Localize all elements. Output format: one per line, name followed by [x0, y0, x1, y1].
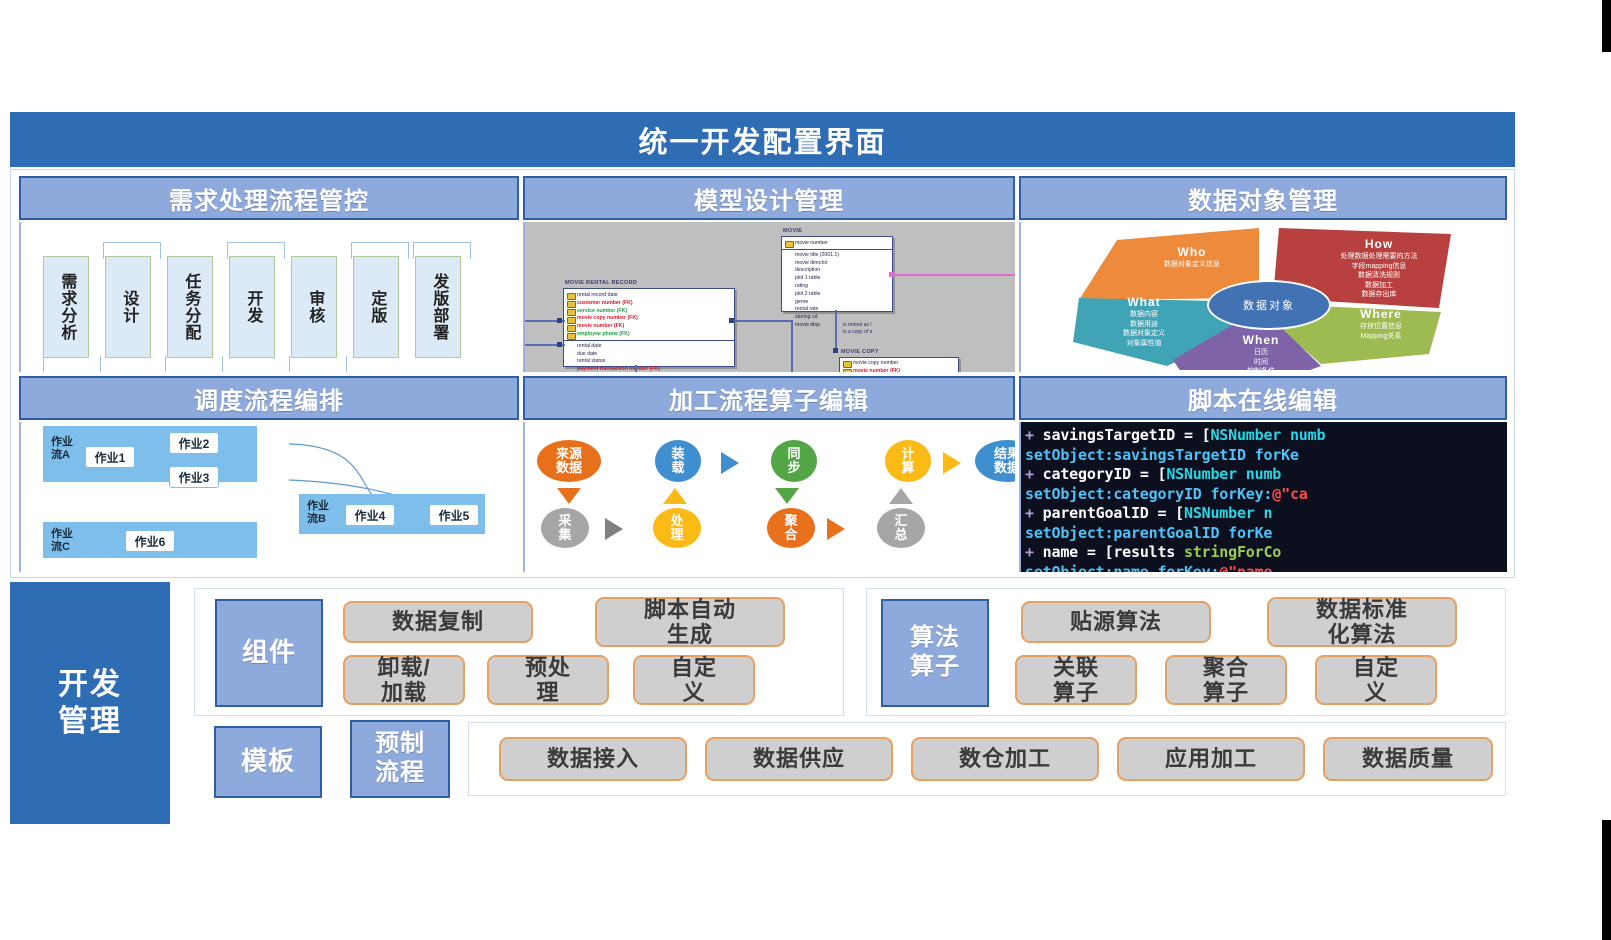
- operator-process[interactable]: 处 理: [653, 508, 701, 548]
- er-field: genre: [782, 299, 892, 307]
- er-field: plot 2 table: [782, 291, 892, 299]
- er-field: movie copy number: [840, 360, 958, 368]
- card-template-flows: 数据接入 数据供应 数仓加工 应用加工 数据质量: [468, 722, 1506, 796]
- code-line: + parentGoalID = [NSNumber n: [1025, 504, 1507, 524]
- requirement-flow-canvas: 需求分析 设计 任务分配 开发 审核 定版 发版部署: [43, 234, 513, 368]
- panel-requirement-flow[interactable]: 需求处理流程管控 需求分析 设计 任务分配 开发 审核: [19, 176, 519, 372]
- swimlane-a-label: 作业 流A: [51, 436, 73, 462]
- operator-compute[interactable]: 计 算: [885, 440, 931, 482]
- er-field: rental rate: [782, 306, 892, 314]
- er-field: plot 1 table: [782, 275, 892, 283]
- panel-body-script-editor: + savingsTargetID = [NSNumber numbsetObj…: [1019, 422, 1507, 572]
- flow-step-4[interactable]: 审核: [291, 256, 337, 358]
- arrow-up-icon: [889, 488, 913, 504]
- panel-body-data-object: Who 数据对象定义信息 How 处理数据处理需要的方法 字段mapping信息…: [1019, 222, 1507, 372]
- dev-management-section: 开发 管理 组件 数据复制 脚本自动 生成 卸载/ 加载 预处 理 自定 义 算…: [10, 582, 1515, 824]
- chip-aggregate-operator[interactable]: 聚合 算子: [1165, 655, 1287, 705]
- arrow-right-icon: [943, 452, 961, 474]
- diagram-frame: 统一开发配置界面 需求处理流程管控 需求分析: [10, 112, 1515, 824]
- category-algorithms[interactable]: 算法 算子: [881, 599, 989, 707]
- operator-sync[interactable]: 同 步: [771, 440, 817, 482]
- er-field: employee phone (FK): [564, 331, 734, 339]
- chip-join-operator[interactable]: 关联 算子: [1015, 655, 1137, 705]
- data-object-pie-chart[interactable]: Who 数据对象定义信息 How 处理数据处理需要的方法 字段mapping信息…: [1021, 222, 1507, 372]
- panel-script-editor[interactable]: 脚本在线编辑 + savingsTargetID = [NSNumber num…: [1019, 376, 1507, 572]
- er-field: movie title (2001.1): [782, 252, 892, 260]
- pie-label-who: Who 数据对象定义信息: [1117, 244, 1267, 270]
- pie-label-where: Where 存放位置信息 Mapping关系: [1317, 306, 1445, 341]
- arrow-down-icon: [557, 488, 581, 504]
- flow-step-1[interactable]: 设计: [105, 256, 151, 358]
- code-line: setObject:parentGoalID forKe: [1025, 524, 1507, 544]
- page-title-bar: 统一开发配置界面: [10, 112, 1515, 167]
- code-line: + savingsTargetID = [NSNumber numb: [1025, 426, 1507, 446]
- chip-application-processing[interactable]: 应用加工: [1117, 737, 1305, 781]
- chip-script-autogen[interactable]: 脚本自动 生成: [595, 597, 785, 647]
- chip-preprocess[interactable]: 预处 理: [487, 655, 609, 705]
- panel-body-model-design: MOVIE movie number movie title (2001.1) …: [523, 222, 1015, 372]
- chip-data-supply[interactable]: 数据供应: [705, 737, 893, 781]
- operator-summarize[interactable]: 汇 总: [877, 508, 925, 548]
- pie-label-how: How 处理数据处理需要的方法 字段mapping信息 数据清洗规则 数据加工 …: [1299, 236, 1459, 299]
- er-field: description: [782, 267, 892, 275]
- job-node-2[interactable]: 作业2: [169, 432, 219, 454]
- panel-title-model-design: 模型设计管理: [694, 181, 844, 216]
- panel-data-object[interactable]: 数据对象管理: [1019, 176, 1507, 372]
- chip-warehouse-processing[interactable]: 数仓加工: [911, 737, 1099, 781]
- category-template[interactable]: 模板: [214, 726, 322, 798]
- operator-canvas[interactable]: 来源 数据 装 载 同 步 计 算 结果 数据 采 集 处 理: [525, 422, 1015, 572]
- panel-model-design[interactable]: 模型设计管理 MOVIE movie number movie title (2…: [523, 176, 1015, 372]
- panel-header-schedule-flow: 调度流程编排: [19, 376, 519, 420]
- panel-header-operator-edit: 加工流程算子编辑: [523, 376, 1015, 420]
- chip-data-replication[interactable]: 数据复制: [343, 601, 533, 643]
- swimlane-c-label: 作业 流C: [51, 528, 73, 554]
- dev-management-label: 开发 管理: [10, 582, 170, 824]
- panel-header-model-design: 模型设计管理: [523, 176, 1015, 220]
- pie-label-when: When 日历 时间 控制条件: [1201, 332, 1321, 372]
- job-node-3[interactable]: 作业3: [169, 466, 219, 488]
- flow-step-3[interactable]: 开发: [229, 256, 275, 358]
- er-field: movie number (FK): [840, 368, 958, 372]
- card-components: 组件 数据复制 脚本自动 生成 卸载/ 加载 预处 理 自定 义: [194, 588, 844, 716]
- panel-header-script-editor: 脚本在线编辑: [1019, 376, 1507, 420]
- job-node-1[interactable]: 作业1: [85, 446, 135, 468]
- chip-source-algorithm[interactable]: 贴源算法: [1021, 601, 1211, 643]
- er-field: due date: [564, 351, 734, 359]
- panel-grid: 需求处理流程管控 需求分析 设计 任务分配 开发 审核: [10, 169, 1515, 578]
- er-field: movie number (FK): [564, 323, 734, 331]
- operator-result-data[interactable]: 结果 数据: [975, 440, 1015, 482]
- er-field: rental record date: [564, 292, 734, 300]
- page-title: 统一开发配置界面: [638, 119, 886, 161]
- chip-data-quality[interactable]: 数据质量: [1323, 737, 1493, 781]
- card-algorithms: 算法 算子 贴源算法 数据标准 化算法 关联 算子 聚合 算子 自定 义: [866, 588, 1506, 716]
- flow-step-5[interactable]: 定版: [353, 256, 399, 358]
- operator-source-data[interactable]: 来源 数据: [537, 440, 601, 482]
- panel-title-schedule-flow: 调度流程编排: [194, 381, 344, 416]
- swimlane-a[interactable]: 作业 流A: [43, 426, 257, 482]
- arrow-up-icon: [663, 488, 687, 504]
- operator-collect[interactable]: 采 集: [541, 508, 589, 548]
- code-line: + name = [results stringForCo: [1025, 543, 1507, 563]
- chip-data-standardization-algorithm[interactable]: 数据标准 化算法: [1267, 597, 1457, 647]
- category-preset-flow[interactable]: 预制 流程: [350, 720, 450, 798]
- er-field: customer number (FK): [564, 300, 734, 308]
- panel-title-data-object: 数据对象管理: [1188, 181, 1338, 216]
- panel-body-operator-edit: 来源 数据 装 载 同 步 计 算 结果 数据 采 集 处 理: [523, 422, 1015, 572]
- job-node-5[interactable]: 作业5: [429, 504, 479, 526]
- panel-title-script-editor: 脚本在线编辑: [1188, 381, 1338, 416]
- code-line: setObject:savingsTargetID forKe: [1025, 446, 1507, 466]
- er-field: service number (FK): [564, 308, 734, 316]
- er-field: movie copy number (FK): [564, 315, 734, 323]
- er-diagram-canvas[interactable]: MOVIE movie number movie title (2001.1) …: [525, 222, 1015, 372]
- panel-header-requirement-flow: 需求处理流程管控: [19, 176, 519, 220]
- pie-center-label: 数据对象: [1207, 280, 1331, 330]
- code-line: setObject:name forKey:@"name: [1025, 563, 1507, 573]
- panel-title-requirement-flow: 需求处理流程管控: [169, 181, 369, 216]
- er-field: movie number: [782, 240, 892, 248]
- panel-body-schedule-flow: 作业 流A 作业1 作业2 作业3 作业 流B 作业4 作业5 作业 流C: [19, 422, 519, 572]
- code-line: setObject:categoryID forKey:@"ca: [1025, 485, 1507, 505]
- er-relationship-label: is rented as / is a copy of a: [843, 322, 872, 336]
- panel-body-requirement-flow: 需求分析 设计 任务分配 开发 审核 定版 发版部署: [19, 222, 519, 372]
- flow-step-2[interactable]: 任务分配: [167, 256, 213, 358]
- panel-operator-edit[interactable]: 加工流程算子编辑 来源 数据 装 载 同 步 计 算 结果 数据: [523, 376, 1015, 572]
- er-field: storing cd: [782, 314, 892, 322]
- flow-step-0[interactable]: 需求分析: [43, 256, 89, 358]
- er-field: movie disp: [782, 322, 892, 330]
- dev-management-body: 组件 数据复制 脚本自动 生成 卸载/ 加载 预处 理 自定 义 算法 算子 贴…: [172, 582, 1515, 824]
- chip-unload-load[interactable]: 卸载/ 加载: [343, 655, 465, 705]
- panel-title-operator-edit: 加工流程算子编辑: [669, 381, 869, 416]
- arrow-right-icon: [721, 452, 739, 474]
- chip-data-ingestion[interactable]: 数据接入: [499, 737, 687, 781]
- pie-label-what: What 数据内容 数据用途 数据对象定义 对象属性值: [1083, 294, 1205, 348]
- er-table-title-copy: MOVIE COPY: [841, 349, 879, 355]
- job-node-6[interactable]: 作业6: [125, 530, 175, 552]
- right-edge-strip: [1602, 0, 1611, 940]
- arrow-right-icon: [827, 518, 845, 540]
- er-field: rental date: [564, 343, 734, 351]
- er-table-title-movie: MOVIE: [783, 228, 802, 234]
- operator-aggregate[interactable]: 聚 合: [767, 508, 815, 548]
- code-editor[interactable]: + savingsTargetID = [NSNumber numbsetObj…: [1021, 422, 1507, 572]
- er-table-title-rental: MOVIE RENTAL RECORD: [565, 280, 637, 286]
- code-line: + categoryID = [NSNumber numb: [1025, 465, 1507, 485]
- chip-custom-operator[interactable]: 自定 义: [1315, 655, 1437, 705]
- arrow-down-icon: [775, 488, 799, 504]
- job-node-4[interactable]: 作业4: [345, 504, 395, 526]
- er-field: rating: [782, 283, 892, 291]
- operator-load[interactable]: 装 载: [655, 440, 701, 482]
- dev-management-label-text: 开发 管理: [58, 666, 122, 741]
- panel-header-data-object: 数据对象管理: [1019, 176, 1507, 220]
- er-field: payment transaction number (FK): [564, 366, 734, 372]
- er-field: movie director: [782, 260, 892, 268]
- arrow-right-icon: [605, 518, 623, 540]
- chip-custom-component[interactable]: 自定 义: [633, 655, 755, 705]
- schedule-canvas[interactable]: 作业 流A 作业1 作业2 作业3 作业 流B 作业4 作业5 作业 流C: [21, 422, 519, 572]
- flow-step-6[interactable]: 发版部署: [415, 256, 461, 358]
- er-field: rental status: [564, 358, 734, 366]
- category-components[interactable]: 组件: [215, 599, 323, 707]
- panel-schedule-flow[interactable]: 调度流程编排 作业 流A 作业1 作业2: [19, 376, 519, 572]
- swimlane-b-label: 作业 流B: [307, 500, 329, 526]
